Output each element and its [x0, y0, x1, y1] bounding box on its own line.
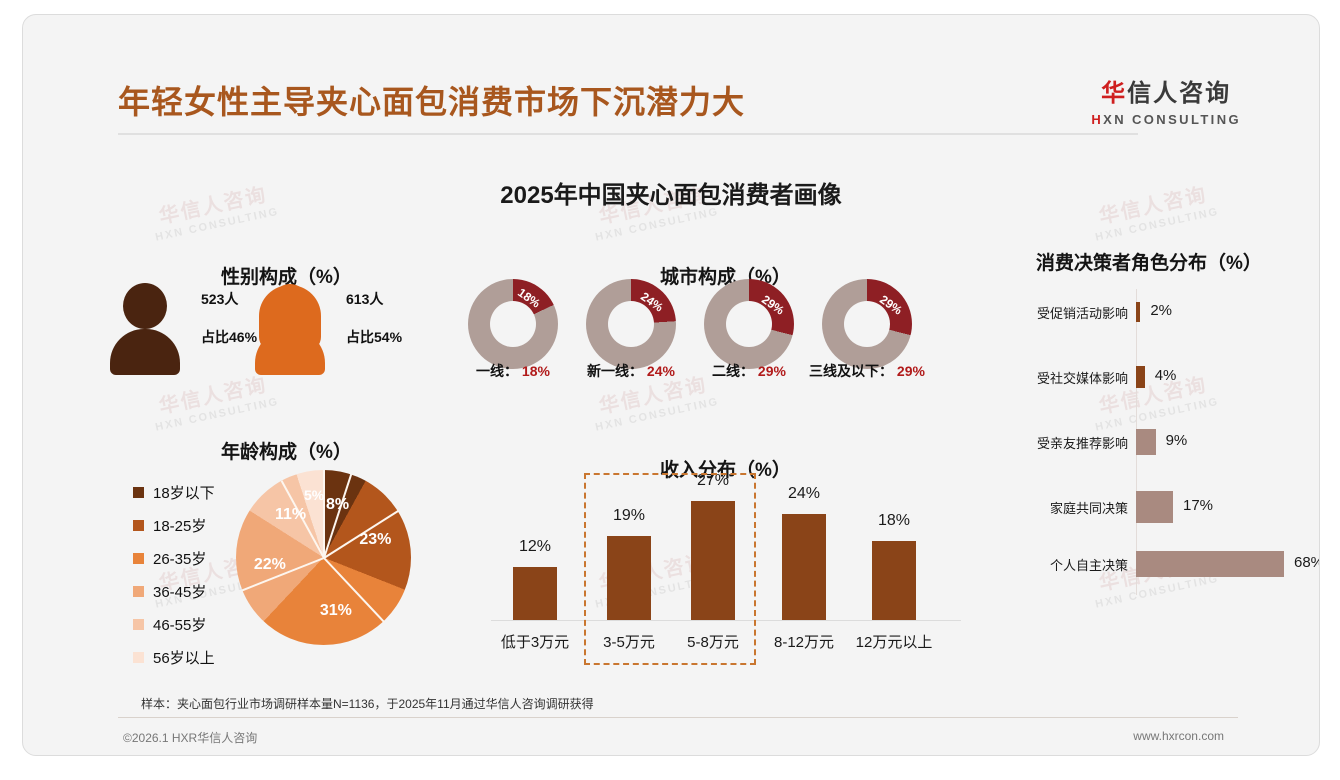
donut-label-text: 二线： — [712, 363, 754, 379]
decision-label: 家庭共同决策 — [1004, 498, 1128, 517]
income-bar-category: 12万元以上 — [834, 631, 954, 652]
legend-swatch — [133, 619, 144, 630]
website-link[interactable]: www.hxrcon.com — [1133, 729, 1224, 743]
income-bar[interactable] — [513, 567, 557, 620]
page-title: 年轻女性主导夹心面包消费市场下沉潜力大 — [118, 77, 745, 123]
logo-chinese-rest: 信人咨询 — [1127, 80, 1231, 107]
male-silhouette-icon — [109, 283, 181, 375]
gender-share: 占比46% — [201, 327, 257, 347]
legend-label: 56岁以上 — [153, 647, 215, 668]
donut-label-value: 24% — [643, 363, 675, 379]
donut-label: 二线： 29% — [712, 361, 786, 381]
city-donut-二线: 29% — [704, 279, 794, 369]
city-donut-新一线: 24% — [586, 279, 676, 369]
pie-slice-value: 8% — [326, 496, 349, 514]
city-donut-一线: 18% — [468, 279, 558, 369]
donut-label-text: 三线及以下： — [809, 363, 893, 379]
female-silhouette-icon — [254, 283, 326, 375]
decision-bar[interactable] — [1136, 551, 1284, 577]
income-bar[interactable] — [782, 514, 826, 620]
income-bar[interactable] — [872, 541, 916, 620]
pie-slice-value: 23% — [359, 531, 391, 549]
pie-slice-value: 11% — [275, 506, 306, 524]
pie-slice-value: 5% — [304, 487, 324, 503]
decision-bar[interactable] — [1136, 366, 1145, 388]
income-highlight-box — [584, 473, 756, 665]
legend-item[interactable]: 18-25岁 — [133, 512, 215, 538]
source-note: 样本：夹心面包行业市场调研样本量N=1136，于2025年11月通过华信人咨询调… — [141, 695, 594, 712]
legend-label: 18-25岁 — [153, 515, 206, 536]
footer-divider — [118, 717, 1238, 718]
donut-label-value: 18% — [518, 363, 550, 379]
legend-item[interactable]: 56岁以上 — [133, 644, 215, 670]
watermark: 华信人咨询HXN CONSULTING — [148, 366, 280, 433]
logo-chinese: 华信人咨询 — [1091, 73, 1241, 108]
logo-english: HXN CONSULTING — [1091, 112, 1241, 127]
copyright-text: ©2026.1 HXR华信人咨询 — [123, 729, 257, 746]
decision-value: 9% — [1166, 432, 1188, 449]
donut-label: 新一线： 24% — [587, 361, 675, 381]
slide-card: 华信人咨询HXN CONSULTING华信人咨询HXN CONSULTING华信… — [22, 14, 1320, 756]
decision-bar[interactable] — [1136, 491, 1173, 523]
donut-label-value: 29% — [754, 363, 786, 379]
brand-logo: 华信人咨询 HXN CONSULTING — [1091, 73, 1241, 127]
gender-count: 613人 — [346, 289, 383, 309]
donut-label-text: 一线： — [476, 363, 518, 379]
legend-item[interactable]: 26-35岁 — [133, 545, 215, 571]
decision-label: 受社交媒体影响 — [1004, 368, 1128, 387]
decision-bar[interactable] — [1136, 302, 1140, 322]
income-bar-value: 24% — [764, 485, 844, 503]
decision-value: 68% — [1294, 554, 1320, 571]
legend-item[interactable]: 36-45岁 — [133, 578, 215, 604]
logo-english-first: H — [1091, 112, 1103, 127]
decision-value: 4% — [1155, 367, 1177, 384]
donut-label-text: 新一线： — [587, 363, 643, 379]
decision-label: 个人自主决策 — [1004, 555, 1128, 574]
decision-value: 2% — [1150, 302, 1172, 319]
gender-count: 523人 — [201, 289, 238, 309]
legend-swatch — [133, 487, 144, 498]
infographic-page: 华信人咨询HXN CONSULTING华信人咨询HXN CONSULTING华信… — [0, 0, 1340, 780]
pie-slice-value: 22% — [254, 556, 286, 574]
legend-item[interactable]: 18岁以下 — [133, 479, 215, 505]
age-legend: 18岁以下18-25岁26-35岁36-45岁46-55岁56岁以上 — [133, 479, 215, 677]
legend-swatch — [133, 553, 144, 564]
title-divider — [118, 133, 1138, 135]
decision-bar[interactable] — [1136, 429, 1156, 455]
income-bar-value: 12% — [495, 538, 575, 556]
legend-item[interactable]: 46-55岁 — [133, 611, 215, 637]
pie-slice-value: 31% — [320, 602, 352, 620]
legend-swatch — [133, 520, 144, 531]
income-bar-value: 18% — [854, 512, 934, 530]
legend-label: 46-55岁 — [153, 614, 206, 635]
pie-separator — [323, 470, 325, 558]
legend-swatch — [133, 586, 144, 597]
age-section-title: 年龄构成（%） — [221, 437, 352, 464]
legend-label: 18岁以下 — [153, 482, 215, 503]
legend-label: 36-45岁 — [153, 581, 206, 602]
decision-section-title: 消费决策者角色分布（%） — [1036, 248, 1262, 275]
page-subtitle: 2025年中国夹心面包消费者画像 — [23, 175, 1319, 210]
decision-label: 受促销活动影响 — [1004, 303, 1128, 322]
decision-value: 17% — [1183, 497, 1213, 514]
gender-share: 占比54% — [346, 327, 402, 347]
legend-swatch — [133, 652, 144, 663]
donut-label: 三线及以下： 29% — [809, 361, 925, 381]
logo-chinese-first: 华 — [1101, 80, 1127, 107]
city-donut-三线及以下: 29% — [822, 279, 912, 369]
donut-label-value: 29% — [893, 363, 925, 379]
decision-label: 受亲友推荐影响 — [1004, 433, 1128, 452]
logo-english-rest: XN CONSULTING — [1103, 112, 1241, 127]
legend-label: 26-35岁 — [153, 548, 206, 569]
donut-label: 一线： 18% — [476, 361, 550, 381]
